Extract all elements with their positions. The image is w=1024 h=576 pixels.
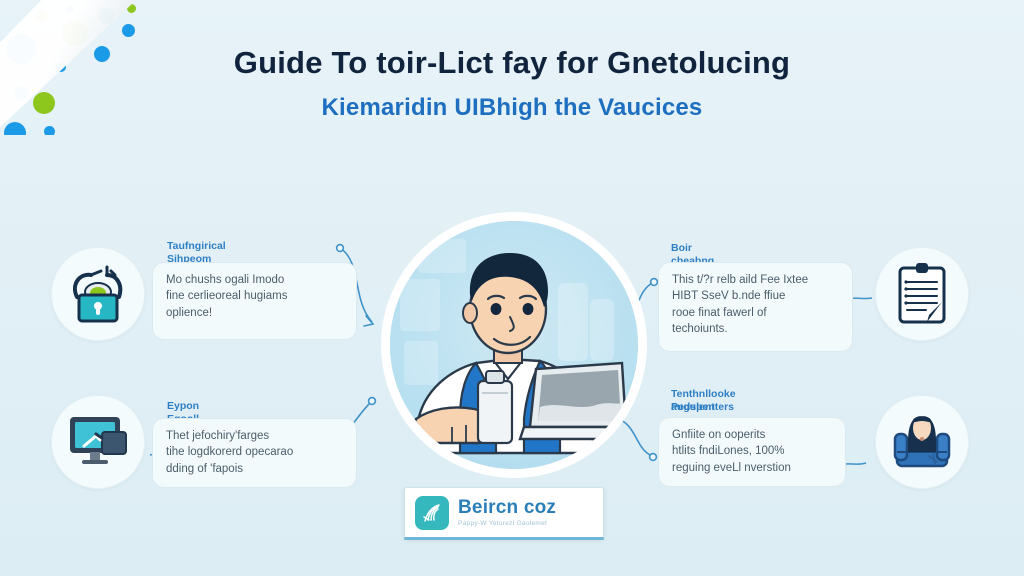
page-subtitle: Kiemaridin UIBhigh the Vaucices bbox=[0, 95, 1024, 122]
padlock-icon bbox=[67, 263, 129, 325]
node-body: This t/?r relb aild Fee Ixtee HIBT SseV … bbox=[672, 272, 840, 337]
logo-underline bbox=[404, 537, 604, 540]
title-block: Guide To toir-Lict fay for Gnetolucing K… bbox=[0, 46, 1024, 122]
leaf-feather-icon bbox=[415, 496, 449, 530]
node-body: Mo chushs ogali Imodo fine cerlieoreal h… bbox=[166, 272, 344, 321]
node-bubble: Gnfiite on ooperits htlits fndiLones, 10… bbox=[658, 417, 846, 487]
decor-dot bbox=[4, 122, 26, 135]
decor-dot bbox=[122, 24, 135, 37]
man-at-laptop-icon bbox=[390, 221, 647, 478]
node-heading-line-2: Pedspenters bbox=[671, 401, 734, 414]
node-bubble: Thet jefochiry'farges tihe logdkorerd op… bbox=[152, 418, 357, 488]
node-bubble: Mo chushs ogali Imodo fine cerlieoreal h… bbox=[152, 262, 357, 340]
node-body: Thet jefochiry'farges tihe logdkorerd op… bbox=[166, 428, 344, 477]
monitor-icon-circle bbox=[51, 395, 145, 489]
center-illustration bbox=[381, 212, 647, 478]
brand-logo[interactable]: Beircn coz Pappy-W Yeturezl Gaolemet bbox=[404, 487, 604, 539]
infographic-canvas: Guide To toir-Lict fay for Gnetolucing K… bbox=[0, 0, 1024, 576]
node-body: Gnfiite on ooperits htlits fndiLones, 10… bbox=[672, 427, 833, 476]
page-title: Guide To toir-Lict fay for Gnetolucing bbox=[0, 46, 1024, 81]
node-bubble: This t/?r relb aild Fee Ixtee HIBT SseV … bbox=[658, 262, 853, 352]
person-in-armchair-icon bbox=[891, 412, 953, 472]
logo-tagline: Pappy-W Yeturezl Gaolemet bbox=[458, 521, 556, 528]
clipboard-icon-circle bbox=[875, 247, 969, 341]
person-icon-circle bbox=[875, 395, 969, 489]
center-ring bbox=[381, 212, 647, 478]
logo-name: Beircn coz bbox=[458, 498, 556, 517]
monitor-icon bbox=[66, 412, 130, 472]
padlock-icon-circle bbox=[51, 247, 145, 341]
logo-text-block: Beircn coz Pappy-W Yeturezl Gaolemet bbox=[458, 498, 556, 528]
clipboard-pen-icon bbox=[894, 262, 950, 326]
decor-dot bbox=[44, 126, 55, 135]
